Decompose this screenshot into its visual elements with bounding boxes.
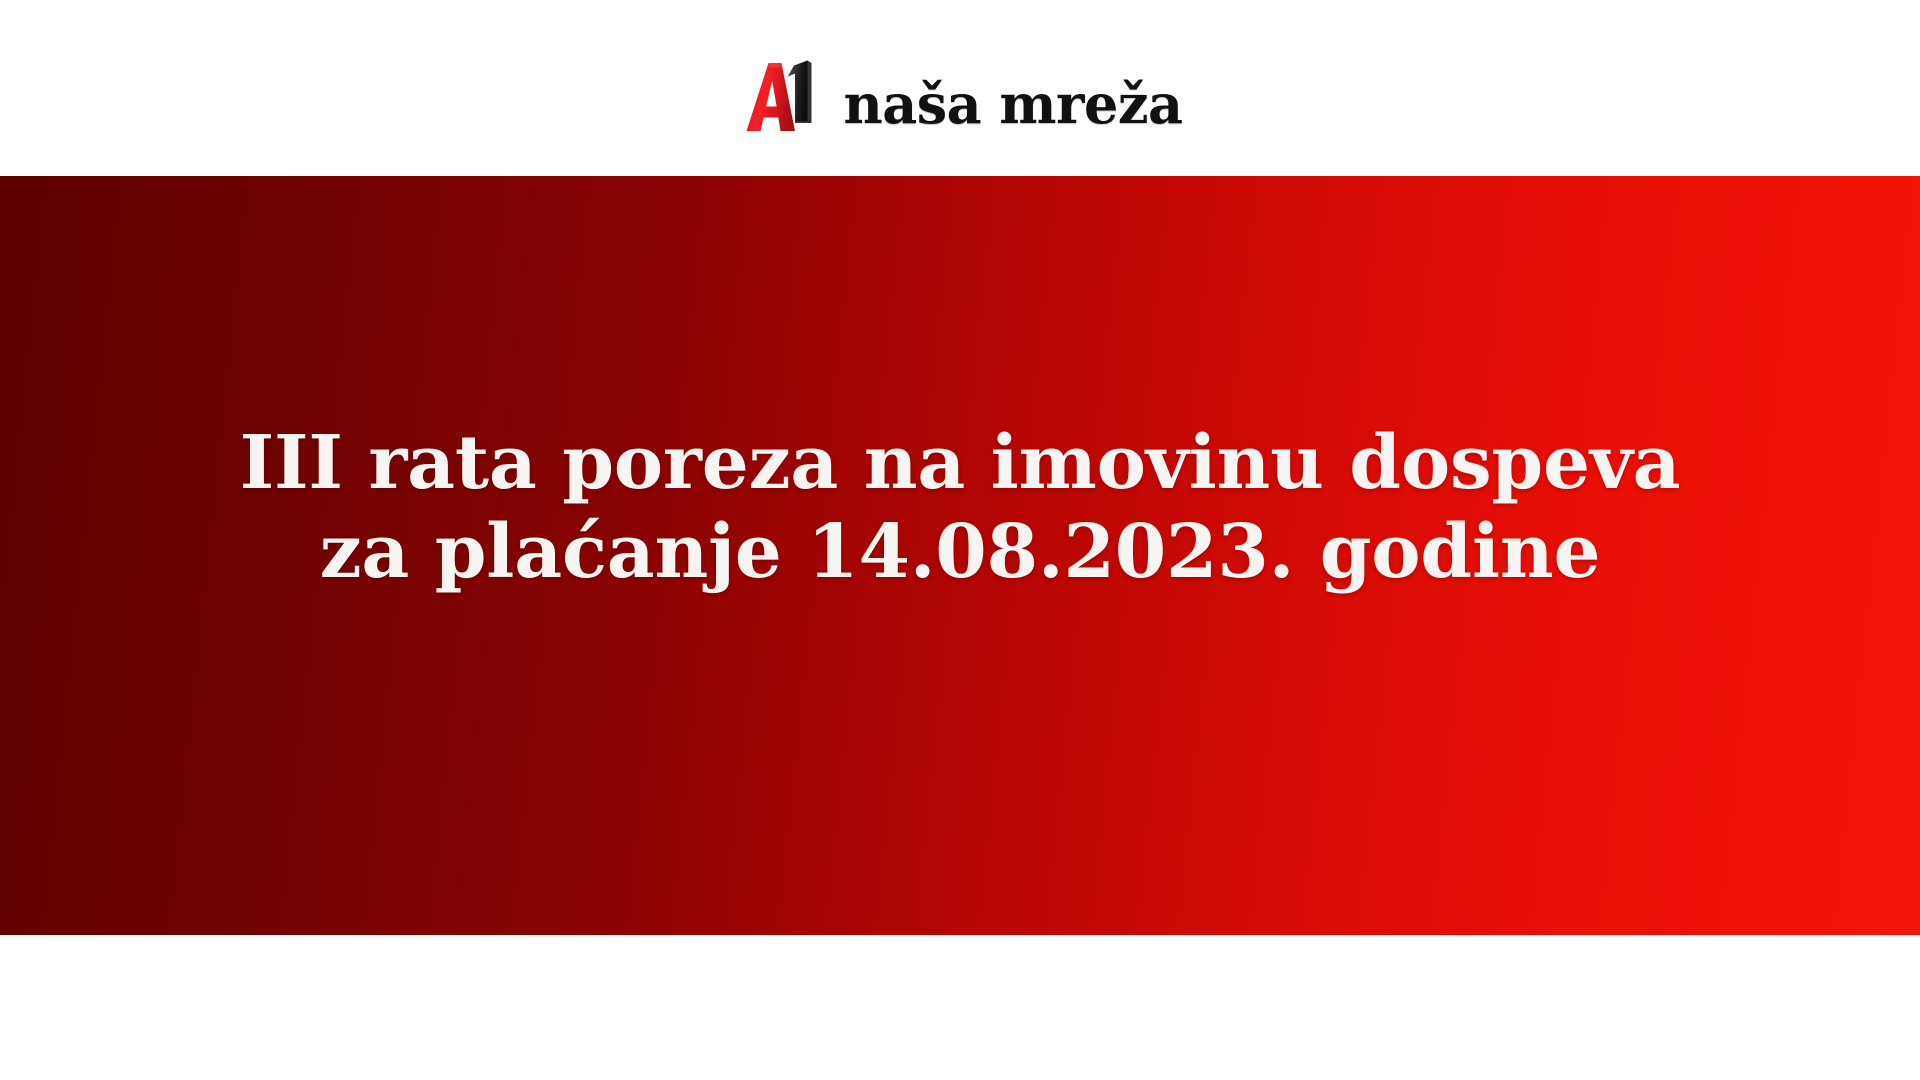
- hero-headline-line-2: za plaćanje 14.08.2023. godine: [0, 508, 1920, 597]
- hero-banner-content: III rata poreza na imovinu dospeva za pl…: [0, 419, 1920, 597]
- hero-banner: III rata poreza na imovinu dospeva za pl…: [0, 176, 1920, 935]
- site-header: naša mreža: [0, 0, 1920, 176]
- page-root: naša mreža III rata poreza na imovinu do…: [0, 0, 1920, 1080]
- hero-headline: III rata poreza na imovinu dospeva za pl…: [0, 419, 1920, 597]
- a1-logo-letter-a: [747, 63, 796, 131]
- hero-headline-line-1: III rata poreza na imovinu dospeva: [0, 419, 1920, 508]
- a1-logo-icon: [737, 59, 821, 133]
- brand-name-text: naša mreža: [843, 77, 1182, 133]
- page-footer: [0, 935, 1920, 1080]
- brand-lockup[interactable]: naša mreža: [737, 59, 1182, 133]
